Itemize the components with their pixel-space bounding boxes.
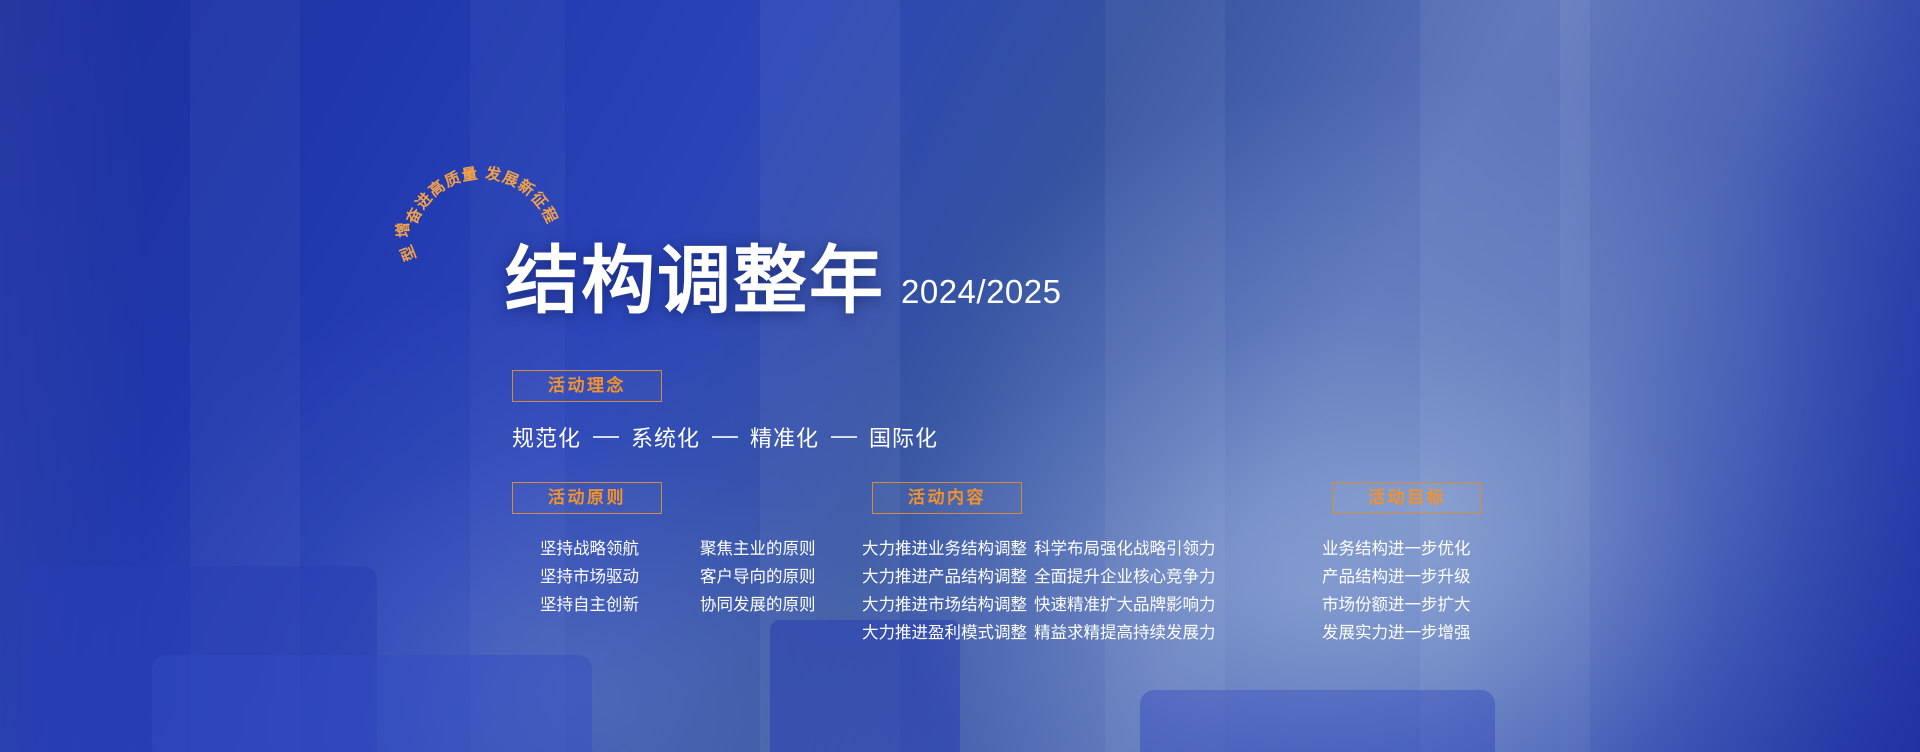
- ring-text-top: 奋进高质量 发展新征程: [402, 163, 562, 228]
- year-label: 2024/2025: [901, 273, 1062, 318]
- content-1-b: 全面提升企业核心竞争力: [1034, 563, 1216, 591]
- concept-line: 规范化 系统化 精准化 国际化: [512, 421, 938, 453]
- list-item: 发展实力进一步增强: [1322, 619, 1471, 647]
- goal-list: 业务结构进一步优化 产品结构进一步升级 市场份额进一步扩大 发展实力进一步增强: [1322, 535, 1471, 647]
- concept-item-0: 规范化: [512, 421, 581, 453]
- badge-goal: 活动目标: [1332, 482, 1482, 514]
- principle-list: 坚持战略领航 聚焦主业的原则 坚持市场驱动 客户导向的原则 坚持自主创新 协同发…: [540, 535, 816, 619]
- list-item: 大力推进产品结构调整 全面提升企业核心竞争力: [862, 563, 1216, 591]
- content-2-a: 大力推进市场结构调整: [862, 591, 1034, 619]
- principle-2-b: 协同发展的原则: [700, 591, 816, 619]
- deco-rect-2: [152, 655, 592, 752]
- concept-item-1: 系统化: [631, 421, 700, 453]
- content-3-b: 精益求精提高持续发展力: [1034, 619, 1216, 647]
- list-item: 大力推进业务结构调整 科学布局强化战略引领力: [862, 535, 1216, 563]
- content-2-b: 快速精准扩大品牌影响力: [1034, 591, 1216, 619]
- deco-rect-5: [1560, 0, 1920, 752]
- principle-2-a: 坚持自主创新: [540, 591, 700, 619]
- content-0-a: 大力推进业务结构调整: [862, 535, 1034, 563]
- content-list: 大力推进业务结构调整 科学布局强化战略引领力 大力推进产品结构调整 全面提升企业…: [862, 535, 1216, 647]
- deco-rect-1: [22, 566, 377, 752]
- list-item: 坚持自主创新 协同发展的原则: [540, 591, 816, 619]
- principle-0-b: 聚焦主业的原则: [700, 535, 816, 563]
- list-item: 产品结构进一步升级: [1322, 563, 1471, 591]
- principle-1-b: 客户导向的原则: [700, 563, 816, 591]
- list-item: 大力推进盈利模式调整 精益求精提高持续发展力: [862, 619, 1216, 647]
- badge-concept: 活动理念: [512, 370, 662, 402]
- principle-1-a: 坚持市场驱动: [540, 563, 700, 591]
- list-item: 市场份额进一步扩大: [1322, 591, 1471, 619]
- bg-band-1: [0, 0, 150, 752]
- promo-banner: 奋进高质量 发展新征程 促转型 增动能 结构调整年 2024/2025 活动理念…: [0, 0, 1920, 752]
- list-item: 坚持市场驱动 客户导向的原则: [540, 563, 816, 591]
- page-title: 结构调整年: [505, 244, 885, 318]
- content-3-a: 大力推进盈利模式调整: [862, 619, 1034, 647]
- list-item: 业务结构进一步优化: [1322, 535, 1471, 563]
- concept-dash-1: [712, 436, 738, 438]
- list-item: 坚持战略领航 聚焦主业的原则: [540, 535, 816, 563]
- bg-band-2: [190, 0, 300, 752]
- list-item: 大力推进市场结构调整 快速精准扩大品牌影响力: [862, 591, 1216, 619]
- concept-item-3: 国际化: [869, 421, 938, 453]
- bg-band-7: [1760, 0, 1920, 752]
- badge-content: 活动内容: [872, 482, 1022, 514]
- ring-text-left: 促转型 增动能: [389, 117, 420, 264]
- content-0-b: 科学布局强化战略引领力: [1034, 535, 1216, 563]
- content-1-a: 大力推进产品结构调整: [862, 563, 1034, 591]
- title-row: 结构调整年 2024/2025: [505, 244, 1062, 318]
- concept-item-2: 精准化: [750, 421, 819, 453]
- concept-dash-0: [593, 436, 619, 438]
- concept-dash-2: [831, 436, 857, 438]
- principle-0-a: 坚持战略领航: [540, 535, 700, 563]
- deco-rect-4: [1140, 690, 1495, 752]
- badge-principle: 活动原则: [512, 482, 662, 514]
